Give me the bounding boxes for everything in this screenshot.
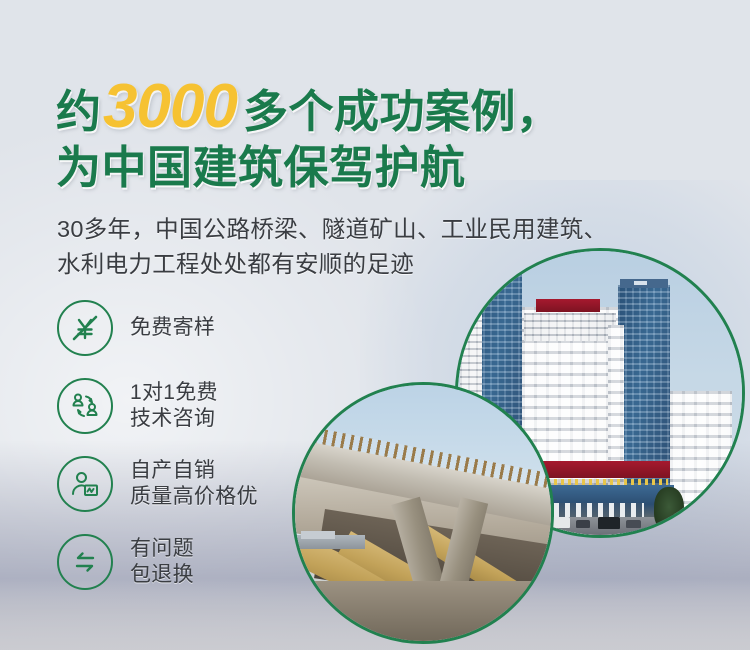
car-3 bbox=[576, 520, 590, 528]
center-balcony-band bbox=[524, 313, 616, 341]
exchange-return-icon bbox=[57, 534, 113, 590]
feature-line: 质量高价格优 bbox=[130, 484, 258, 510]
feature-item-return-exchange: 有问题 包退换 bbox=[57, 531, 317, 593]
headline-line-1: 约3000多个成功案例， bbox=[56, 76, 716, 138]
promo-banner: 约3000多个成功案例， 为中国建筑保驾护航 30多年，中国公路桥梁、隧道矿山、… bbox=[0, 0, 750, 650]
feature-line: 免费寄样 bbox=[130, 315, 215, 341]
feature-line: 包退换 bbox=[130, 562, 194, 588]
feature-line: 自产自销 bbox=[130, 458, 258, 484]
car-5 bbox=[626, 520, 641, 528]
tower-right-logo bbox=[634, 281, 647, 285]
feature-list: 免费寄样 1对1免费 技术咨询 bbox=[57, 297, 317, 609]
no-fee-yen-icon bbox=[57, 300, 113, 356]
feature-text-return-exchange: 有问题 包退换 bbox=[130, 536, 194, 589]
headline-suffix: 多个成功案例， bbox=[243, 86, 562, 137]
feature-item-free-sample: 免费寄样 bbox=[57, 297, 317, 359]
feature-line: 1对1免费 bbox=[130, 380, 218, 406]
bridge-photo-content bbox=[295, 385, 551, 641]
feature-item-self-production: 自产自销 质量高价格优 bbox=[57, 453, 317, 515]
self-production-chart-icon bbox=[57, 456, 113, 512]
headline: 约3000多个成功案例， 为中国建筑保驾护航 bbox=[56, 76, 716, 190]
headline-number: 3000 bbox=[101, 72, 243, 141]
subtitle-line-1: 30多年，中国公路桥梁、隧道矿山、工业民用建筑、 bbox=[57, 212, 717, 247]
tower-left-logo bbox=[492, 253, 506, 257]
headline-prefix: 约 bbox=[56, 86, 101, 137]
bridge-viaduct-photo bbox=[292, 382, 554, 644]
feature-text-free-sample: 免费寄样 bbox=[130, 315, 215, 341]
feature-text-consultation: 1对1免费 技术咨询 bbox=[130, 380, 218, 433]
street-tree bbox=[654, 487, 684, 531]
car-4 bbox=[598, 517, 620, 529]
rooftop-sign-top bbox=[536, 299, 600, 312]
car-2 bbox=[552, 517, 570, 528]
feature-line: 技术咨询 bbox=[130, 406, 218, 432]
feature-text-self-production: 自产自销 质量高价格优 bbox=[130, 458, 258, 511]
headline-line-2: 为中国建筑保驾护航 bbox=[56, 145, 716, 190]
feature-line: 有问题 bbox=[130, 536, 194, 562]
one-to-one-consult-icon bbox=[57, 378, 113, 434]
feature-item-consultation: 1对1免费 技术咨询 bbox=[57, 375, 317, 437]
